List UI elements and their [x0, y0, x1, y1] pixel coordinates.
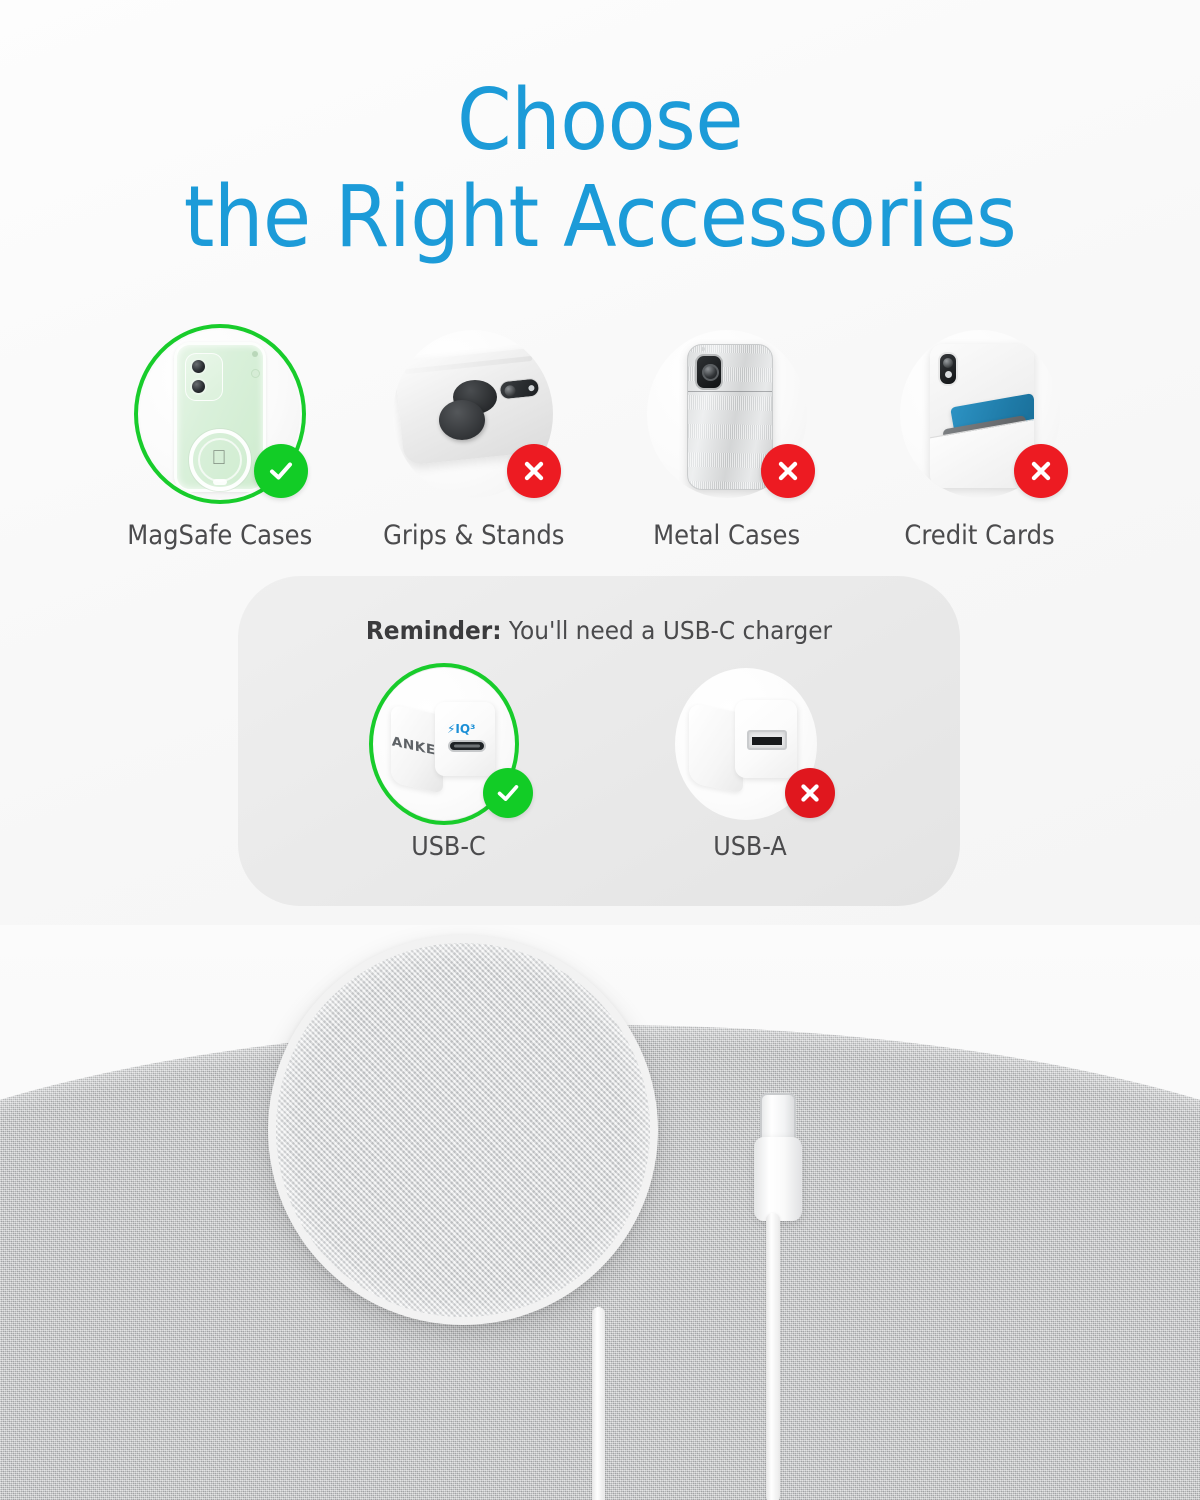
reminder-text: Reminder: You'll need a USB-C charger: [263, 616, 934, 645]
title-line-2: the Right Accessories: [48, 175, 1152, 262]
camera-module: [695, 354, 723, 390]
grip-thumbnail: [385, 330, 561, 506]
page-title: Choose the Right Accessories: [0, 78, 1200, 261]
status-badge-cross: [1014, 444, 1068, 498]
accessory-label: Metal Cases: [653, 520, 800, 551]
accessory-label: Credit Cards: [905, 520, 1055, 551]
flash-icon: [701, 347, 705, 351]
camera-lens-icon: [190, 358, 207, 375]
accessory-item-grips-stands: Grips & Stands: [348, 330, 598, 551]
accessory-label: Grips & Stands: [383, 520, 564, 551]
accessory-compatibility-row:  MagSafe Cases: [95, 330, 1105, 551]
title-line-1: Choose: [48, 78, 1152, 165]
magsafe-wireless-charging-pad: [268, 935, 658, 1325]
accessory-item-magsafe-cases:  MagSafe Cases: [95, 330, 345, 551]
charger-compatibility-row: ANKER ⚡IQ³ USB-C: [338, 668, 860, 862]
apple-logo-icon: : [212, 448, 229, 468]
connector-body: [754, 1137, 802, 1221]
lidar-icon: [251, 369, 260, 378]
accessory-item-metal-cases: Metal Cases: [602, 330, 852, 551]
popsocket-bottom: [439, 400, 485, 440]
status-badge-cross: [761, 444, 815, 498]
camera-module: [938, 352, 958, 386]
metal-case-icon: [687, 344, 773, 490]
reminder-panel: Reminder: You'll need a USB-C charger AN…: [238, 576, 960, 906]
connector-tip: [760, 1093, 796, 1141]
pad-cable-lower-segment: [593, 1395, 604, 1500]
status-badge-cross: [507, 444, 561, 498]
charger-label: USB-C: [411, 832, 485, 862]
flash-icon: [252, 351, 258, 357]
status-badge-cross: [785, 768, 835, 818]
credit-card-thumbnail: [892, 330, 1068, 506]
reminder-label: Reminder:: [366, 616, 502, 645]
usb-c-cable: [766, 1213, 780, 1500]
magsafe-case-thumbnail: : [132, 330, 308, 506]
phone-edge: [405, 356, 533, 374]
usb-a-charger-thumbnail: [675, 668, 825, 820]
usb-c-charger-thumbnail: ANKER ⚡IQ³: [373, 668, 523, 820]
product-photo: [0, 925, 1200, 1500]
pad-fabric-surface: [276, 943, 650, 1317]
case-seam: [688, 391, 772, 392]
status-badge-check: [483, 768, 533, 818]
accessory-item-credit-cards: Credit Cards: [855, 330, 1105, 551]
accessory-label: MagSafe Cases: [128, 520, 313, 551]
popsocket-icon: [439, 380, 499, 442]
usb-c-connector: [748, 1093, 808, 1221]
reminder-body: You'll need a USB-C charger: [509, 616, 832, 645]
clear-magsafe-case-icon: : [174, 342, 266, 492]
charger-item-usb-c: ANKER ⚡IQ³ USB-C: [338, 668, 558, 862]
metal-case-thumbnail: [639, 330, 815, 506]
usb-a-port-icon: [747, 730, 787, 750]
status-badge-check: [254, 444, 308, 498]
camera-lens-icon: [190, 378, 207, 395]
usb-a-charger-icon: [689, 692, 801, 792]
charger-item-usb-a: USB-A: [640, 668, 860, 862]
camera-module: [499, 377, 541, 400]
bottom-notch: [213, 479, 227, 485]
camera-block: [185, 353, 223, 401]
charger-label: USB-A: [713, 832, 787, 862]
infographic-page: Choose the Right Accessories : [0, 0, 1200, 1500]
